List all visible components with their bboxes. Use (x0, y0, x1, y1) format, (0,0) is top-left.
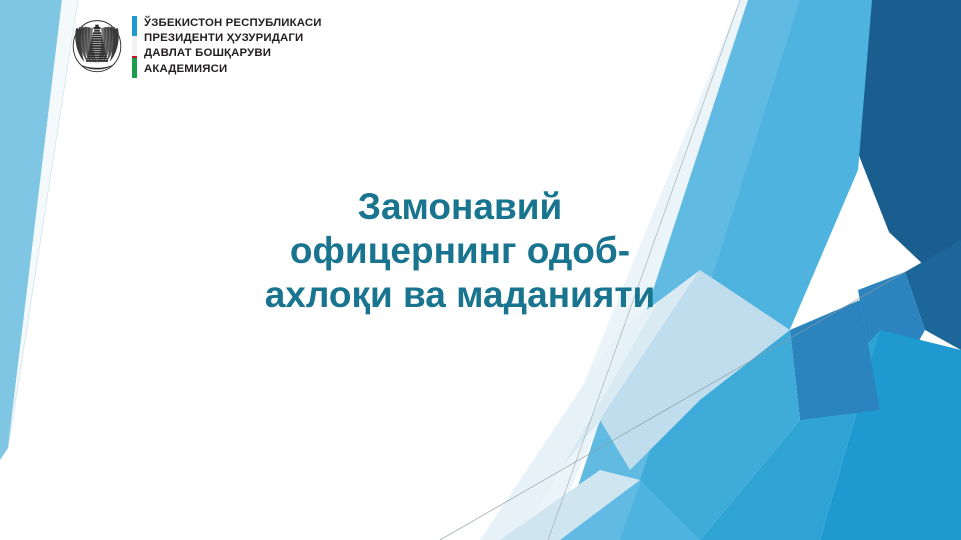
flag-band-white (132, 36, 137, 56)
right-deep-blue-band (845, 0, 961, 300)
organization-name: ЎЗБЕКИСТОН РЕСПУБЛИКАСИ ПРЕЗИДЕНТИ ҲУЗУР… (144, 14, 322, 77)
flag-band-green (132, 58, 137, 78)
org-line-2: ПРЕЗИДЕНТИ ҲУЗУРИДАГИ (144, 31, 322, 46)
slide-title: Замонавий офицернинг одоб- ахлоқи ва мад… (160, 185, 760, 317)
lower-right-azure-b (700, 330, 880, 540)
left-blue-wedge (0, 0, 62, 460)
mid-right-dark-triangle (905, 240, 961, 350)
mid-right-dark-triangle-b (858, 272, 925, 410)
lower-left-pale-sliver (500, 470, 640, 540)
lower-right-azure (820, 330, 961, 540)
lower-mid-facet-2 (640, 300, 800, 540)
right-navy-column (889, 188, 961, 300)
uzbekistan-state-emblem-khumo-bird-icon (68, 14, 126, 76)
presentation-slide: ЎЗБЕКИСТОН РЕСПУБЛИКАСИ ПРЕЗИДЕНТИ ҲУЗУР… (0, 0, 961, 540)
lower-mid-facet-1 (790, 300, 880, 420)
uzbekistan-flag-stripe-icon (132, 16, 137, 78)
title-line-2: офицернинг одоб- (160, 229, 760, 273)
flag-band-blue (132, 16, 137, 36)
organization-logo-block: ЎЗБЕКИСТОН РЕСПУБЛИКАСИ ПРЕЗИДЕНТИ ҲУЗУР… (68, 14, 322, 78)
org-line-1: ЎЗБЕКИСТОН РЕСПУБЛИКАСИ (144, 16, 322, 31)
right-deep-blue-band-b (800, 0, 868, 120)
org-line-3: ДАВЛАТ БОШҚАРУВИ (144, 46, 322, 61)
title-line-1: Замонавий (160, 185, 760, 229)
ice-wedge-c (480, 300, 660, 540)
title-line-3: ахлоқи ва маданияти (160, 273, 760, 317)
org-line-4: АКАДЕМИЯСИ (144, 62, 322, 77)
